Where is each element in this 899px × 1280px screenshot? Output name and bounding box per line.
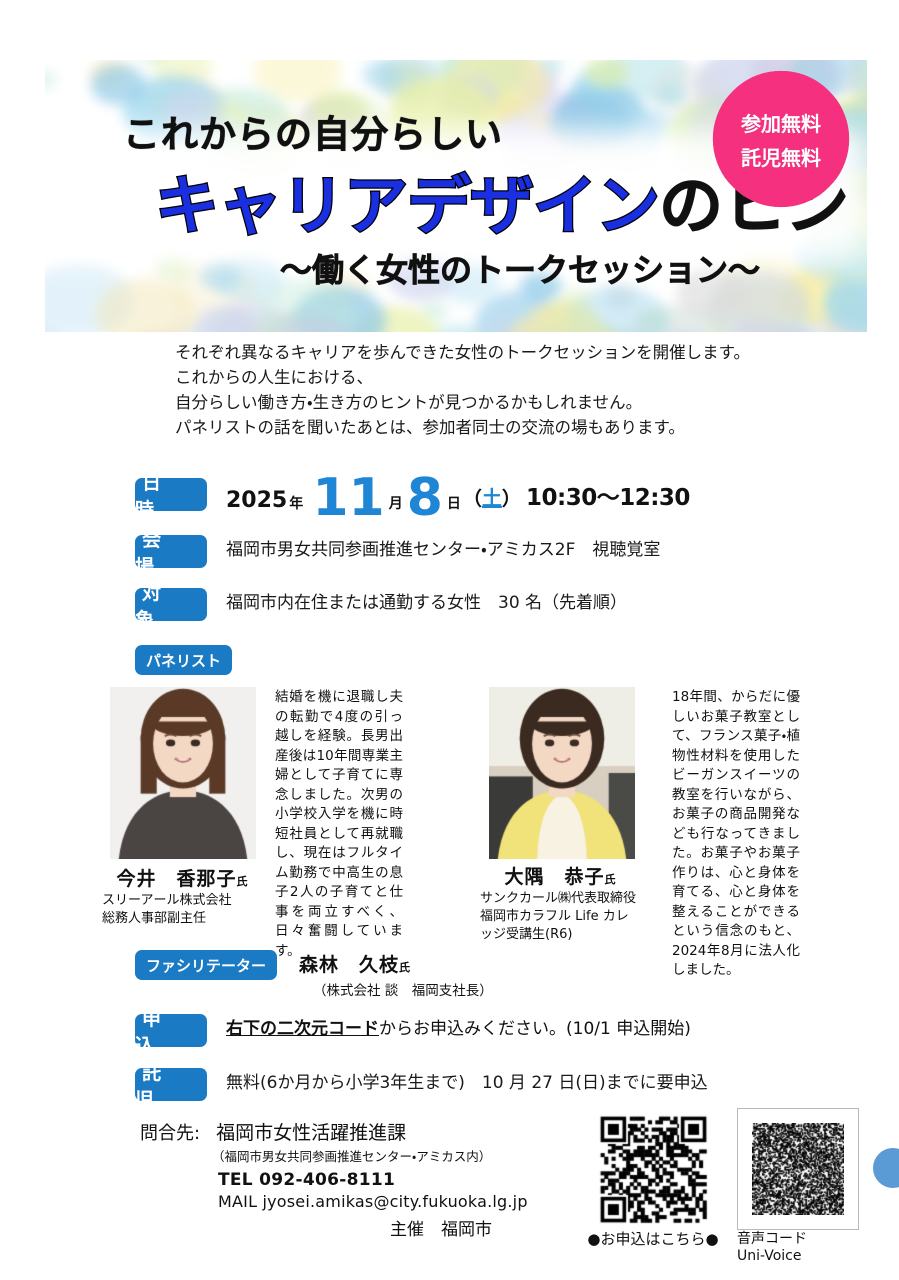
date-dayofweek: 土 (482, 486, 502, 510)
label-badge-apply: 申 込 (135, 1014, 207, 1047)
panelist-2-honorific: 氏 (605, 873, 616, 886)
date-day: 8 (407, 468, 443, 528)
apply-rest-text: からお申込みください。(10/1 申込開始) (379, 1019, 691, 1039)
apply-link-text[interactable]: 右下の二次元コード (226, 1019, 379, 1039)
event-time: 10:30～12:30 (526, 485, 690, 511)
label-badge-target: 対 象 (135, 588, 207, 621)
contact-department-sub: （福岡市男女共同参画推進センター・アミカス内） (212, 1146, 528, 1165)
event-host: 主催 福岡市 (390, 1215, 528, 1240)
univoice-caption-line-1: 音声コード (737, 1231, 807, 1248)
panelist-2-name-block: 大隅 恭子氏 サンクカール㈱代表取締役 福岡市カラフル Life カレ ッジ受講… (480, 862, 640, 943)
free-badge-line-1: 参加無料 (741, 108, 821, 137)
facilitator-honorific: 氏 (399, 961, 411, 974)
panelist-1-name: 今井 香那子 (116, 868, 236, 890)
panelist-1-org-line-2: 総務人事部副主任 (102, 910, 262, 927)
intro-paragraph: それぞれ異なるキャリアを歩んできた女性のトークセッションを開催します。 これから… (175, 340, 835, 440)
contact-email[interactable]: MAIL jyosei.amikas@city.fukuoka.lg.jp (218, 1192, 528, 1211)
target-value: 福岡市内在住または通勤する女性 30 名（先着順） (226, 588, 627, 618)
header-banner: これからの自分らしい キャリアデザインのヒント ～働く女性のトークセッション～ … (45, 60, 867, 332)
flyer-page: これからの自分らしい キャリアデザインのヒント ～働く女性のトークセッション～ … (0, 0, 899, 1280)
univoice-code-image (752, 1123, 844, 1215)
apply-value: 右下の二次元コードからお申込みください。(10/1 申込開始) (226, 1014, 691, 1044)
panelist-1-name-block: 今井 香那子氏 スリーアール株式会社 総務人事部副主任 (102, 864, 262, 927)
panelist-1-portrait-image (110, 687, 256, 859)
contact-header-row: 問合先:福岡市女性活躍推進課 (140, 1118, 528, 1145)
decorative-blue-circle (873, 1148, 899, 1188)
datetime-value: 2025年 11月8日（土） 10:30～12:30 (226, 478, 690, 520)
info-row-facilitator: ファシリテーター 森林 久枝氏 （株式会社 談 福岡支社長） (135, 950, 493, 999)
panelist-2-photo (489, 687, 635, 859)
panelist-2-name: 大隅 恭子 (504, 866, 604, 888)
univoice-caption-line-2: Uni-Voice (737, 1248, 807, 1265)
info-row-datetime: 日 時 2025年 11月8日（土） 10:30～12:30 (135, 478, 690, 520)
paren-open: （ (463, 488, 482, 510)
free-badge-line-2: 託児無料 (741, 142, 821, 171)
label-badge-datetime: 日 時 (135, 478, 207, 511)
facilitator-org: （株式会社 談 福岡支社長） (313, 979, 493, 999)
info-row-childcare: 託 児 無料(6か月から小学3年生まで) 10 月 27 日(日)までに要申込 (135, 1068, 708, 1101)
panelist-1-photo (110, 687, 256, 859)
panelist-2-bio: 18年間、からだに優しいお菓子教室として、フランス菓子・植物性材料を使用したビー… (672, 688, 800, 981)
date-day-unit: 日 (447, 496, 461, 512)
label-badge-facilitator: ファシリテーター (135, 950, 277, 980)
application-qr-code[interactable] (597, 1113, 710, 1226)
panelist-2-org-line-2: 福岡市カラフル Life カレ (480, 908, 640, 925)
panelist-2-org-line-3: ッジ受講生(R6) (480, 926, 640, 943)
contact-department: 福岡市女性活躍推進課 (216, 1122, 406, 1144)
date-month: 11 (312, 468, 384, 528)
label-badge-childcare: 託 児 (135, 1068, 207, 1101)
childcare-value: 無料(6か月から小学3年生まで) 10 月 27 日(日)までに要申込 (226, 1068, 708, 1098)
univoice-code-box[interactable] (737, 1108, 859, 1230)
title-line-3: ～働く女性のトークセッション～ (280, 245, 760, 291)
panelist-1-bio: 結婚を機に退職し夫の転勤で4度の引っ越しを経験。長男出産後は10年間専業主婦とし… (275, 688, 403, 961)
title-main-blue: キャリアデザイン (155, 170, 659, 244)
facilitator-body: 森林 久枝氏 （株式会社 談 福岡支社長） (299, 950, 493, 999)
panelist-2-portrait-image (489, 687, 635, 859)
info-row-venue: 会 場 福岡市男女共同参画推進センター・アミカス2F 視聴覚室 (135, 535, 660, 568)
label-badge-panelist: パネリスト (135, 645, 232, 675)
label-badge-venue: 会 場 (135, 535, 207, 568)
intro-line-4: パネリストの話を聞いたあとは、参加者同士の交流の場もあります。 (175, 415, 835, 440)
contact-label: 問合先: (140, 1123, 200, 1144)
date-year-unit: 年 (289, 496, 303, 512)
footer-contact: 問合先:福岡市女性活躍推進課 （福岡市男女共同参画推進センター・アミカス内） T… (140, 1118, 528, 1240)
panelist-1-honorific: 氏 (237, 875, 248, 888)
intro-line-1: それぞれ異なるキャリアを歩んできた女性のトークセッションを開催します。 (175, 340, 835, 365)
univoice-caption: 音声コード Uni-Voice (737, 1231, 807, 1265)
free-badge-text: 参加無料 託児無料 (717, 75, 845, 203)
info-row-panelist-label: パネリスト (135, 645, 232, 675)
intro-line-2: これからの人生における、 (175, 365, 835, 390)
intro-line-3: 自分らしい働き方・生き方のヒントが見つかるかもしれません。 (175, 390, 835, 415)
title-line-1: これからの自分らしい (123, 104, 503, 158)
contact-telephone[interactable]: TEL 092-406-8111 (218, 1170, 528, 1190)
panelist-1-org-line-1: スリーアール株式会社 (102, 892, 262, 909)
info-row-target: 対 象 福岡市内在住または通勤する女性 30 名（先着順） (135, 588, 627, 621)
free-badge-starburst: 参加無料 託児無料 (717, 75, 845, 203)
facilitator-name: 森林 久枝 (299, 954, 399, 976)
date-month-unit: 月 (389, 496, 403, 512)
paren-close: ） (502, 488, 521, 510)
application-qr-caption: ●お申込はこちら● (578, 1228, 728, 1249)
facilitator-name-wrap: 森林 久枝氏 (299, 954, 411, 976)
date-year: 2025 (226, 488, 287, 513)
panelist-2-org-line-1: サンクカール㈱代表取締役 (480, 890, 640, 907)
info-row-apply: 申 込 右下の二次元コードからお申込みください。(10/1 申込開始) (135, 1014, 691, 1047)
venue-value: 福岡市男女共同参画推進センター・アミカス2F 視聴覚室 (226, 535, 660, 565)
